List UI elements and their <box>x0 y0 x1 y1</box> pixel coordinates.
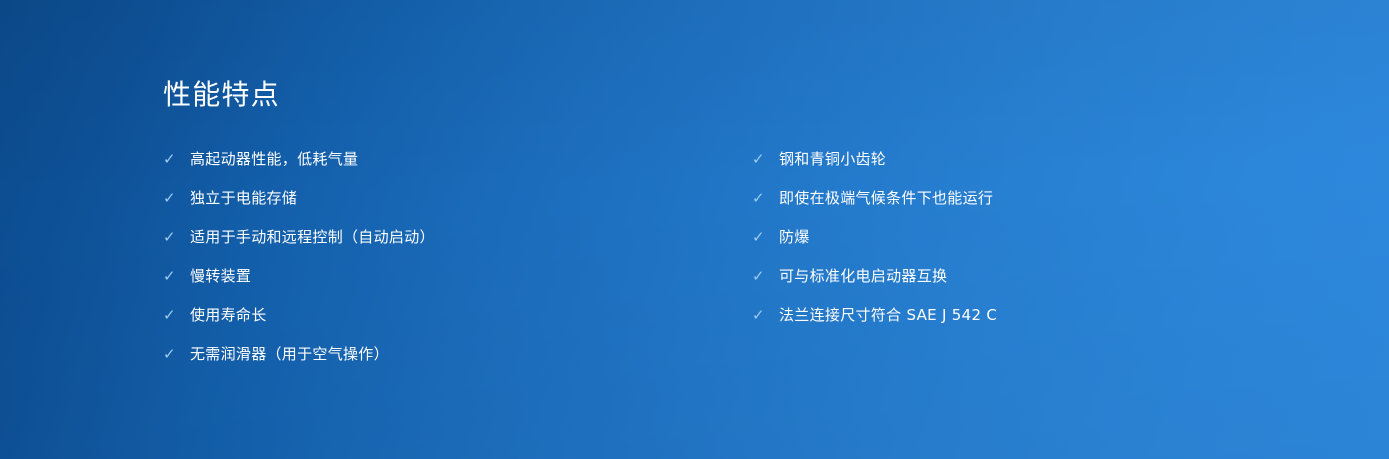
feature-label: 使用寿命长 <box>190 296 267 335</box>
feature-columns: ✓ 高起动器性能，低耗气量 ✓ 独立于电能存储 ✓ 适用于手动和远程控制（自动启… <box>163 140 1389 374</box>
check-icon: ✓ <box>752 179 779 218</box>
check-icon: ✓ <box>752 218 779 257</box>
list-item: ✓ 可与标准化电启动器互换 <box>752 257 1352 296</box>
feature-label: 无需润滑器（用于空气操作） <box>190 335 389 374</box>
page-title: 性能特点 <box>163 78 1389 112</box>
feature-label: 可与标准化电启动器互换 <box>779 257 947 296</box>
check-icon: ✓ <box>752 140 779 179</box>
feature-list-left: ✓ 高起动器性能，低耗气量 ✓ 独立于电能存储 ✓ 适用于手动和远程控制（自动启… <box>163 140 752 374</box>
feature-label: 即使在极端气候条件下也能运行 <box>779 179 993 218</box>
feature-label: 适用于手动和远程控制（自动启动） <box>190 218 435 257</box>
check-icon: ✓ <box>752 257 779 296</box>
list-item: ✓ 即使在极端气候条件下也能运行 <box>752 179 1352 218</box>
check-icon: ✓ <box>163 218 190 257</box>
banner-content: 性能特点 ✓ 高起动器性能，低耗气量 ✓ 独立于电能存储 ✓ 适用于手动和远程控… <box>0 0 1389 374</box>
check-icon: ✓ <box>163 335 190 374</box>
list-item: ✓ 高起动器性能，低耗气量 <box>163 140 752 179</box>
list-item: ✓ 钢和青铜小齿轮 <box>752 140 1352 179</box>
feature-list-right: ✓ 钢和青铜小齿轮 ✓ 即使在极端气候条件下也能运行 ✓ 防爆 ✓ 可与标准化电… <box>752 140 1352 335</box>
list-item: ✓ 适用于手动和远程控制（自动启动） <box>163 218 752 257</box>
feature-label: 独立于电能存储 <box>190 179 297 218</box>
feature-label: 高起动器性能，低耗气量 <box>190 140 358 179</box>
list-item: ✓ 防爆 <box>752 218 1352 257</box>
check-icon: ✓ <box>163 179 190 218</box>
check-icon: ✓ <box>163 140 190 179</box>
feature-label: 防爆 <box>779 218 810 257</box>
check-icon: ✓ <box>163 296 190 335</box>
feature-label: 慢转装置 <box>190 257 251 296</box>
list-item: ✓ 慢转装置 <box>163 257 752 296</box>
performance-features-banner: 性能特点 ✓ 高起动器性能，低耗气量 ✓ 独立于电能存储 ✓ 适用于手动和远程控… <box>0 0 1389 459</box>
list-item: ✓ 无需润滑器（用于空气操作） <box>163 335 752 374</box>
check-icon: ✓ <box>752 296 779 335</box>
list-item: ✓ 独立于电能存储 <box>163 179 752 218</box>
feature-label: 法兰连接尺寸符合 SAE J 542 C <box>779 296 997 335</box>
list-item: ✓ 使用寿命长 <box>163 296 752 335</box>
list-item: ✓ 法兰连接尺寸符合 SAE J 542 C <box>752 296 1352 335</box>
feature-label: 钢和青铜小齿轮 <box>779 140 886 179</box>
check-icon: ✓ <box>163 257 190 296</box>
